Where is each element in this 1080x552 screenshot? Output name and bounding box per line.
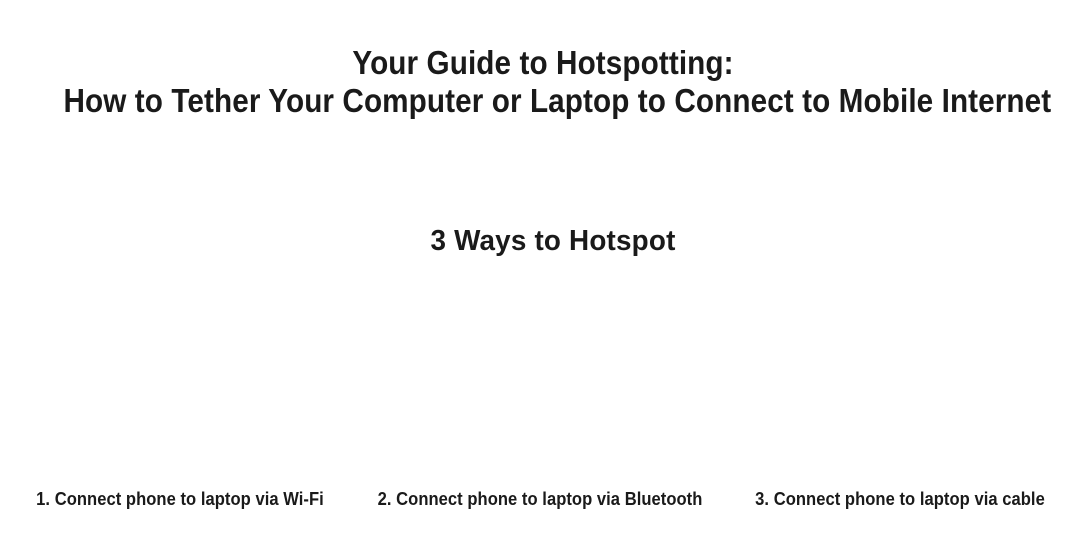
page-title-line-1: Your Guide to Hotspotting: <box>60 44 1027 82</box>
section-heading: 3 Ways to Hotspot <box>35 224 1072 258</box>
infographic-canvas: Your Guide to Hotspotting: How to Tether… <box>0 0 1080 552</box>
method-caption-wifi: 1. Connect phone to laptop via Wi-Fi <box>14 488 345 510</box>
illustration-cable <box>720 278 1080 476</box>
method-caption-cable: 3. Connect phone to laptop via cable <box>734 488 1065 510</box>
illustration-bluetooth <box>360 278 720 476</box>
method-caption-bluetooth: 2. Connect phone to laptop via Bluetooth <box>374 488 705 510</box>
method-caption-row: 1. Connect phone to laptop via Wi-Fi 2. … <box>0 488 1080 516</box>
illustration-area <box>0 278 1080 476</box>
illustration-wifi <box>0 278 360 476</box>
page-title-line-2: How to Tether Your Computer or Laptop to… <box>64 82 1027 120</box>
page-title: Your Guide to Hotspotting: How to Tether… <box>0 44 1080 120</box>
